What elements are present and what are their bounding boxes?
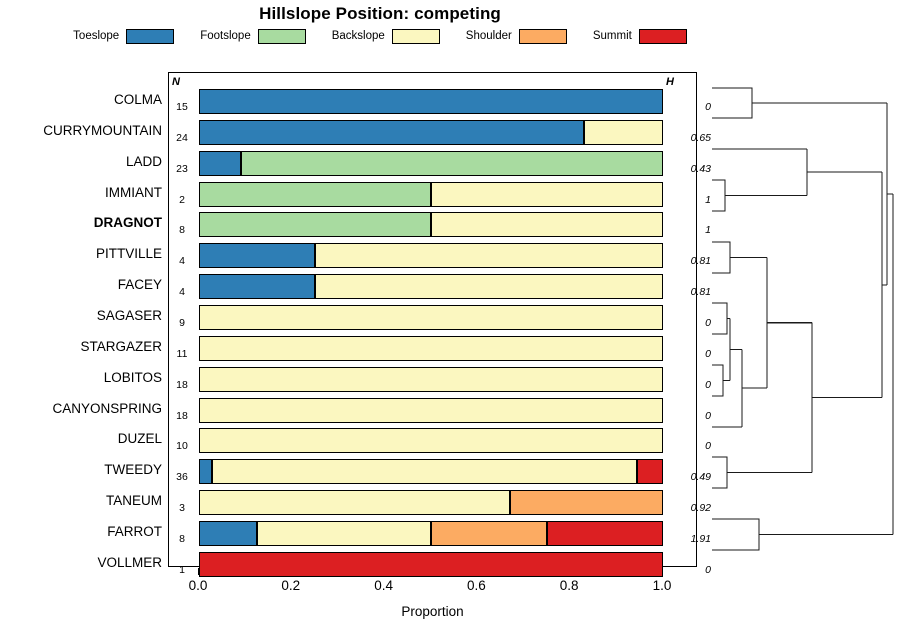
bar-segment	[199, 521, 257, 546]
n-value: 4	[169, 255, 195, 267]
category-label: IMMIANT	[0, 185, 162, 200]
stacked-bar	[199, 336, 663, 361]
stacked-bar	[199, 521, 663, 546]
bar-segment	[199, 552, 663, 577]
category-label: VOLLMER	[0, 555, 162, 570]
bar-segment	[199, 305, 663, 330]
chart-root: Hillslope Position: competing ToeslopeFo…	[0, 0, 900, 640]
legend-swatch	[258, 29, 306, 44]
bar-segment	[584, 120, 663, 145]
x-tick-label: 0.4	[361, 578, 407, 593]
category-label: STARGAZER	[0, 339, 162, 354]
stacked-bar	[199, 305, 663, 330]
n-value: 3	[169, 502, 195, 514]
x-tick-label: 0.2	[268, 578, 314, 593]
n-value: 9	[169, 317, 195, 329]
n-value: 36	[169, 471, 195, 483]
category-label: TANEUM	[0, 493, 162, 508]
x-tick-label: 0.0	[175, 578, 221, 593]
bar-segment	[510, 490, 663, 515]
bar-segment	[257, 521, 431, 546]
stacked-bar	[199, 89, 663, 114]
legend-label: Footslope	[200, 30, 251, 42]
bar-segment	[212, 459, 637, 484]
n-value: 11	[169, 348, 195, 360]
dendrogram-svg	[697, 60, 900, 580]
bar-segment	[199, 459, 212, 484]
x-tick-label: 1.0	[639, 578, 685, 593]
bar-segment	[199, 212, 431, 237]
bar-segment	[199, 89, 663, 114]
n-value: 8	[169, 533, 195, 545]
legend-label: Summit	[593, 30, 632, 42]
stacked-bar	[199, 552, 663, 577]
stacked-bar	[199, 428, 663, 453]
legend-swatch	[519, 29, 567, 44]
legend-item: Toeslope	[73, 29, 174, 44]
n-value: 18	[169, 379, 195, 391]
bar-segment	[199, 367, 663, 392]
n-value: 8	[169, 224, 195, 236]
n-value: 15	[169, 101, 195, 113]
n-value: 18	[169, 410, 195, 422]
stacked-bar	[199, 490, 663, 515]
category-label: CURRYMOUNTAIN	[0, 123, 162, 138]
category-label: COLMA	[0, 92, 162, 107]
n-value: 24	[169, 132, 195, 144]
column-header-n: N	[172, 76, 180, 88]
n-value: 4	[169, 286, 195, 298]
bar-segment	[199, 182, 431, 207]
legend-item: Backslope	[332, 29, 440, 44]
category-label: FACEY	[0, 277, 162, 292]
x-tick-label: 0.6	[453, 578, 499, 593]
stacked-bar	[199, 459, 663, 484]
stacked-bar	[199, 367, 663, 392]
legend-label: Shoulder	[466, 30, 512, 42]
column-header-h: H	[666, 76, 674, 88]
legend-item: Summit	[593, 29, 687, 44]
n-value: 10	[169, 440, 195, 452]
stacked-bar	[199, 243, 663, 268]
bar-segment	[431, 182, 663, 207]
bar-segment	[547, 521, 663, 546]
bar-segment	[199, 243, 315, 268]
bar-segment	[199, 336, 663, 361]
bar-segment	[431, 212, 663, 237]
x-axis-title: Proportion	[168, 604, 697, 619]
category-label: DRAGNOT	[0, 215, 162, 230]
stacked-bar	[199, 212, 663, 237]
category-label: FARROT	[0, 524, 162, 539]
bar-segment	[431, 521, 547, 546]
bar-segment	[241, 151, 663, 176]
n-value: 2	[169, 194, 195, 206]
category-label: LOBITOS	[0, 370, 162, 385]
bar-segment	[315, 274, 663, 299]
stacked-bar	[199, 398, 663, 423]
n-value: 1	[169, 564, 195, 576]
legend-item: Shoulder	[466, 29, 567, 44]
stacked-bar	[199, 120, 663, 145]
stacked-bar	[199, 182, 663, 207]
dendrogram	[697, 60, 900, 580]
stacked-bar	[199, 274, 663, 299]
legend-label: Backslope	[332, 30, 385, 42]
legend-label: Toeslope	[73, 30, 119, 42]
chart-title: Hillslope Position: competing	[0, 4, 760, 24]
category-label: PITTVILLE	[0, 246, 162, 261]
bar-segment	[315, 243, 663, 268]
category-label: LADD	[0, 154, 162, 169]
x-tick-label: 0.8	[546, 578, 592, 593]
bar-segment	[199, 490, 510, 515]
legend-swatch	[392, 29, 440, 44]
legend-item: Footslope	[200, 29, 306, 44]
plot-area	[168, 72, 697, 567]
bar-segment	[199, 120, 584, 145]
legend-swatch	[126, 29, 174, 44]
category-label: SAGASER	[0, 308, 162, 323]
n-value: 23	[169, 163, 195, 175]
bar-segment	[199, 151, 241, 176]
stacked-bar	[199, 151, 663, 176]
chart-legend: ToeslopeFootslopeBackslopeShoulderSummit	[0, 27, 760, 45]
category-label: CANYONSPRING	[0, 401, 162, 416]
bar-segment	[199, 428, 663, 453]
category-label: DUZEL	[0, 431, 162, 446]
legend-swatch	[639, 29, 687, 44]
bar-segment	[199, 274, 315, 299]
bar-segment	[199, 398, 663, 423]
bar-segment	[637, 459, 663, 484]
category-label: TWEEDY	[0, 462, 162, 477]
